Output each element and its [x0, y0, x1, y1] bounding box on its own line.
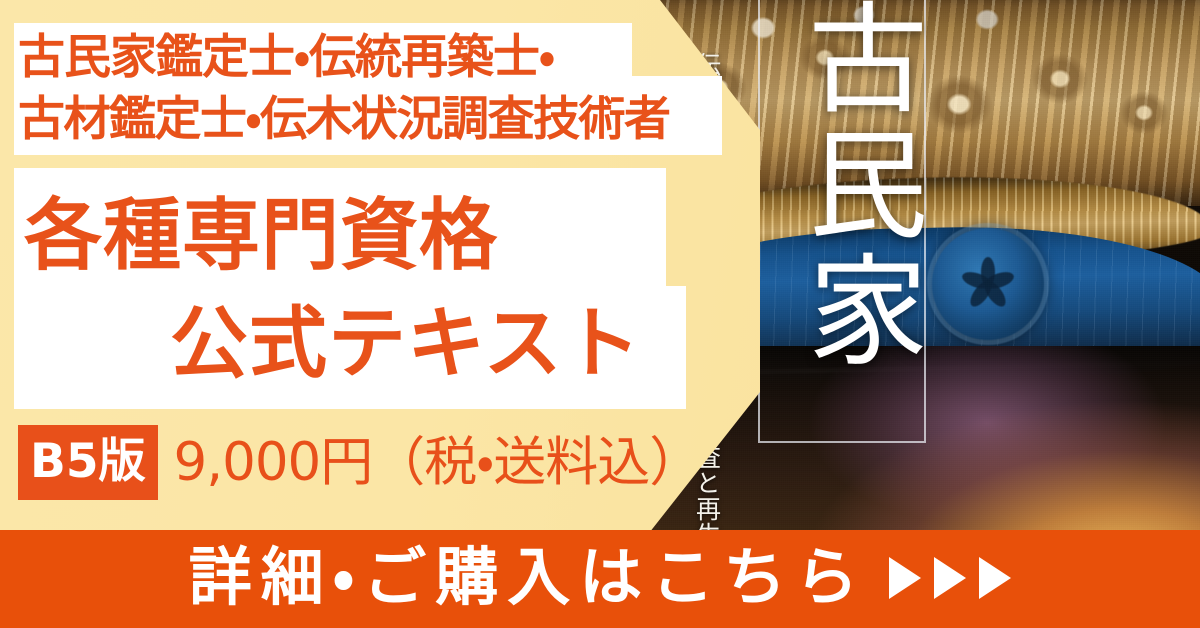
price-row: B5版 9,000円（税・送料込） — [18, 425, 701, 500]
qualifications-line-1: 古民家鑑定士・伝統再築士・ — [18, 27, 718, 89]
triangle-right-icon — [889, 557, 921, 599]
cta-arrows — [889, 557, 1011, 599]
format-badge: B5版 — [18, 425, 158, 500]
headline-line-2: 公式テキスト — [18, 290, 680, 398]
book-title: 古民家 — [758, 0, 926, 374]
qualifications-line-2: 古材鑑定士・伝木状況調査技術者 — [18, 89, 718, 151]
cta-button[interactable]: 詳細・ご購入はこちら — [0, 530, 1200, 628]
qualifications-text: 古民家鑑定士・伝統再築士・ 古材鑑定士・伝木状況調査技術者 — [18, 27, 718, 151]
headline-line-1: 各種専門資格 — [18, 182, 680, 290]
promo-banner: 古民家 伝統構法 古民家活用のための調査と再生の 古民家鑑定士・伝統再築士・ 古… — [0, 0, 1200, 628]
triangle-right-icon — [934, 557, 966, 599]
price-amount: 9,000円（税・送料込） — [174, 436, 702, 489]
cta-label: 詳細・ご購入はこちら — [189, 546, 867, 609]
triangle-right-icon — [979, 557, 1011, 599]
headline-text: 各種専門資格 公式テキスト — [18, 182, 680, 398]
